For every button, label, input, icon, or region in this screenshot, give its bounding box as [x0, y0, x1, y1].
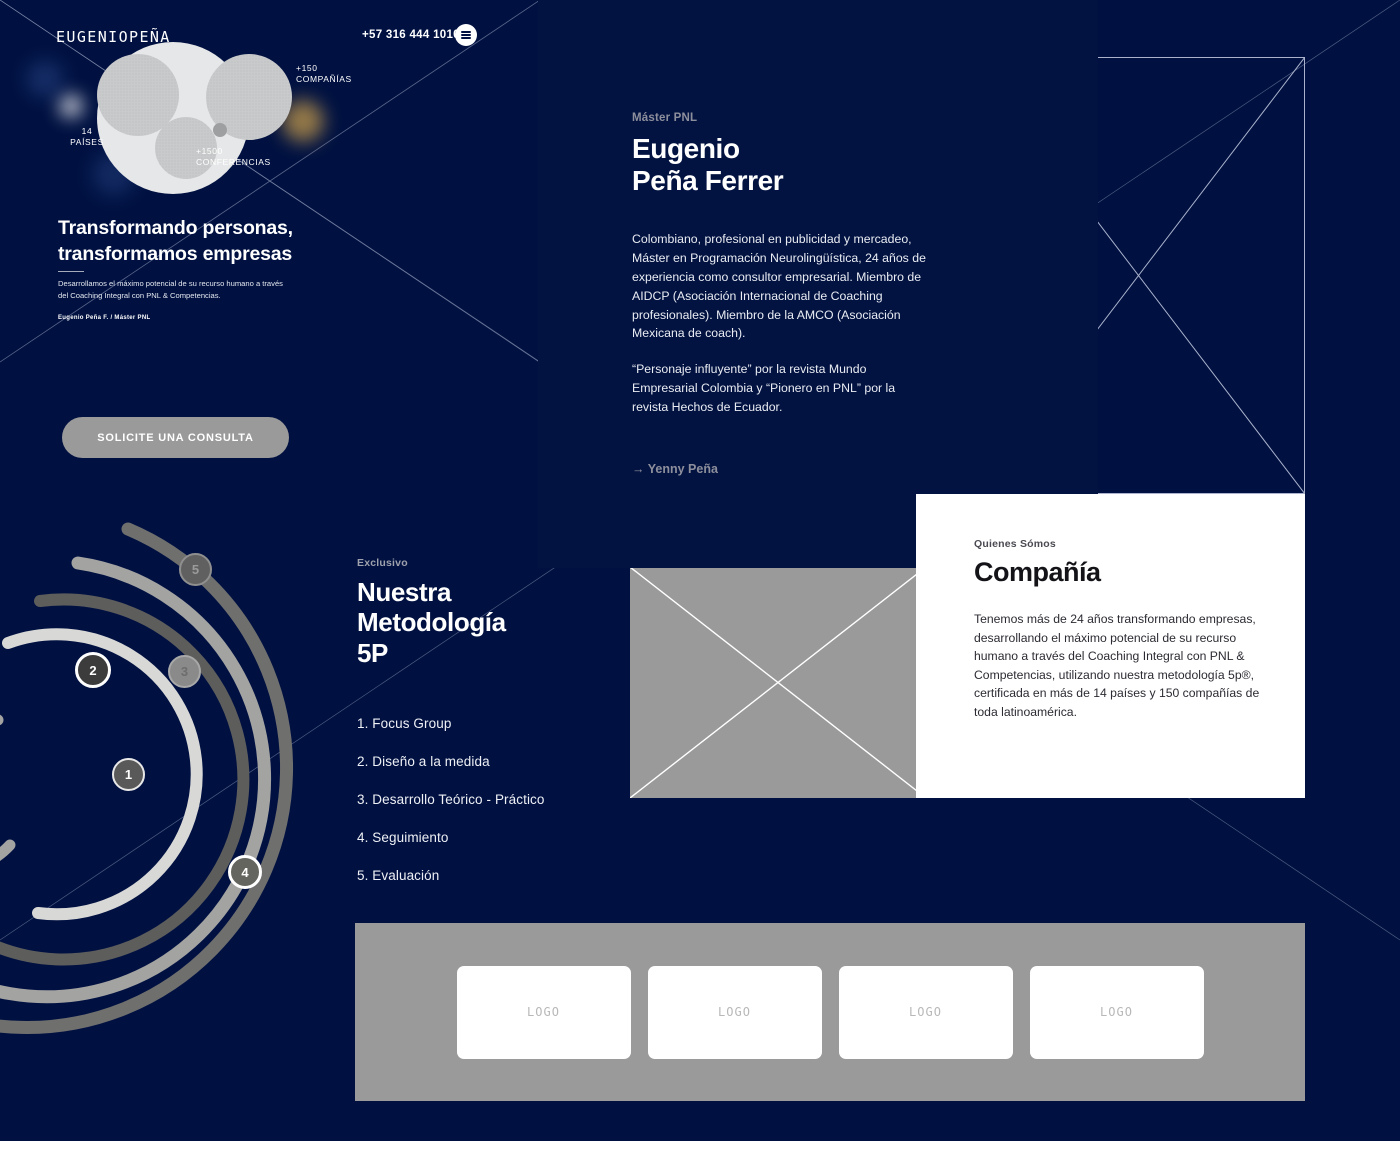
image-placeholder-methodology	[630, 567, 926, 798]
logo-card[interactable]: LOGO	[648, 966, 822, 1059]
logo-card[interactable]: LOGO	[1030, 966, 1204, 1059]
hero-divider	[58, 271, 84, 272]
methodology-title-line-3: 5P	[357, 638, 607, 668]
bottom-white-strip	[0, 1141, 1400, 1156]
company-body: Tenemos más de 24 años transformando emp…	[974, 610, 1264, 721]
profile-bio-paragraph-1: Colombiano, profesional en publicidad y …	[632, 230, 932, 343]
methodology-item[interactable]: 1. Focus Group	[357, 716, 607, 731]
profile-name-line-1: Eugenio	[632, 133, 932, 165]
methodology-item[interactable]: 3. Desarrollo Teórico - Práctico	[357, 792, 607, 807]
spiral-badge-3-label: 3	[181, 664, 188, 679]
yenny-pena-link[interactable]: → Yenny Peña	[632, 462, 718, 476]
methodology-title-line-1: Nuestra	[357, 577, 607, 607]
spiral-badge-2[interactable]: 2	[75, 652, 111, 688]
stat-conferencias-number: +1500	[196, 146, 292, 157]
spiral-badge-4[interactable]: 4	[228, 855, 262, 889]
profile-eyebrow: Máster PNL	[632, 112, 932, 124]
company-card-content: Quienes Sómos Compañía Tenemos más de 24…	[974, 538, 1264, 721]
methodology-item[interactable]: 4. Seguimiento	[357, 830, 607, 845]
stat-paises-number: 14	[64, 126, 110, 137]
hero-title-line-1: Transformando personas,	[58, 216, 378, 242]
methodology-spiral-graphic	[0, 515, 320, 1055]
methodology-eyebrow: Exclusivo	[357, 557, 607, 569]
spiral-badge-2-label: 2	[89, 663, 96, 678]
profile-panel: Máster PNL Eugenio Peña Ferrer Colombian…	[538, 0, 1098, 568]
stat-paises-label: PAÍSES	[70, 137, 104, 147]
company-eyebrow: Quienes Sómos	[974, 538, 1264, 550]
profile-bio: Colombiano, profesional en publicidad y …	[632, 230, 932, 416]
methodology-item[interactable]: 2. Diseño a la medida	[357, 754, 607, 769]
methodology-section: Exclusivo Nuestra Metodología 5P 1. Focu…	[357, 557, 607, 906]
spiral-badge-4-label: 4	[241, 865, 248, 880]
methodology-title-line-2: Metodología	[357, 607, 607, 637]
stat-conferencias-label: CONFERENCIAS	[196, 157, 271, 167]
hero-title: Transformando personas, transformamos em…	[58, 216, 378, 267]
partner-logos-bar: LOGO LOGO LOGO LOGO	[355, 923, 1305, 1101]
stat-conferencias: +1500 CONFERENCIAS	[196, 146, 292, 169]
logo-card[interactable]: LOGO	[839, 966, 1013, 1059]
hamburger-menu-button[interactable]	[455, 24, 477, 46]
hero-subtitle: Desarrollamos el máximo potencial de su …	[58, 278, 284, 302]
request-consultation-button[interactable]: SOLICITE UNA CONSULTA	[62, 417, 289, 458]
spiral-badge-5-label: 5	[192, 562, 199, 577]
hamburger-icon	[461, 29, 471, 40]
profile-name-line-2: Peña Ferrer	[632, 165, 932, 197]
profile-name: Eugenio Peña Ferrer	[632, 133, 932, 196]
hero-credit: Eugenio Peña F. / Máster PNL	[58, 315, 150, 321]
spiral-badge-5[interactable]: 5	[179, 553, 212, 586]
methodology-title: Nuestra Metodología 5P	[357, 577, 607, 668]
logo-card[interactable]: LOGO	[457, 966, 631, 1059]
profile-bio-paragraph-2: “Personaje influyente” por la revista Mu…	[632, 360, 932, 416]
company-title: Compañía	[974, 557, 1264, 588]
stat-paises: 14 PAÍSES	[64, 126, 110, 149]
site-header: EUGENIOPEÑA +57 316 444 1010	[0, 0, 540, 70]
profile-content: Máster PNL Eugenio Peña Ferrer Colombian…	[632, 112, 932, 478]
spiral-badge-1[interactable]: 1	[112, 758, 145, 791]
methodology-item[interactable]: 5. Evaluación	[357, 868, 607, 883]
stat-companias-label: COMPAÑÍAS	[296, 74, 352, 84]
phone-number[interactable]: +57 316 444 1010	[362, 29, 460, 41]
page-root: EUGENIOPEÑA +57 316 444 1010	[0, 0, 1400, 1156]
spiral-badge-1-label: 1	[125, 767, 132, 782]
hero-title-line-2: transformamos empresas	[58, 242, 378, 268]
company-card: Quienes Sómos Compañía Tenemos más de 24…	[916, 494, 1305, 798]
brand-logo[interactable]: EUGENIOPEÑA	[56, 28, 171, 46]
spiral-badge-3[interactable]: 3	[168, 655, 201, 688]
methodology-list: 1. Focus Group 2. Diseño a la medida 3. …	[357, 716, 607, 883]
